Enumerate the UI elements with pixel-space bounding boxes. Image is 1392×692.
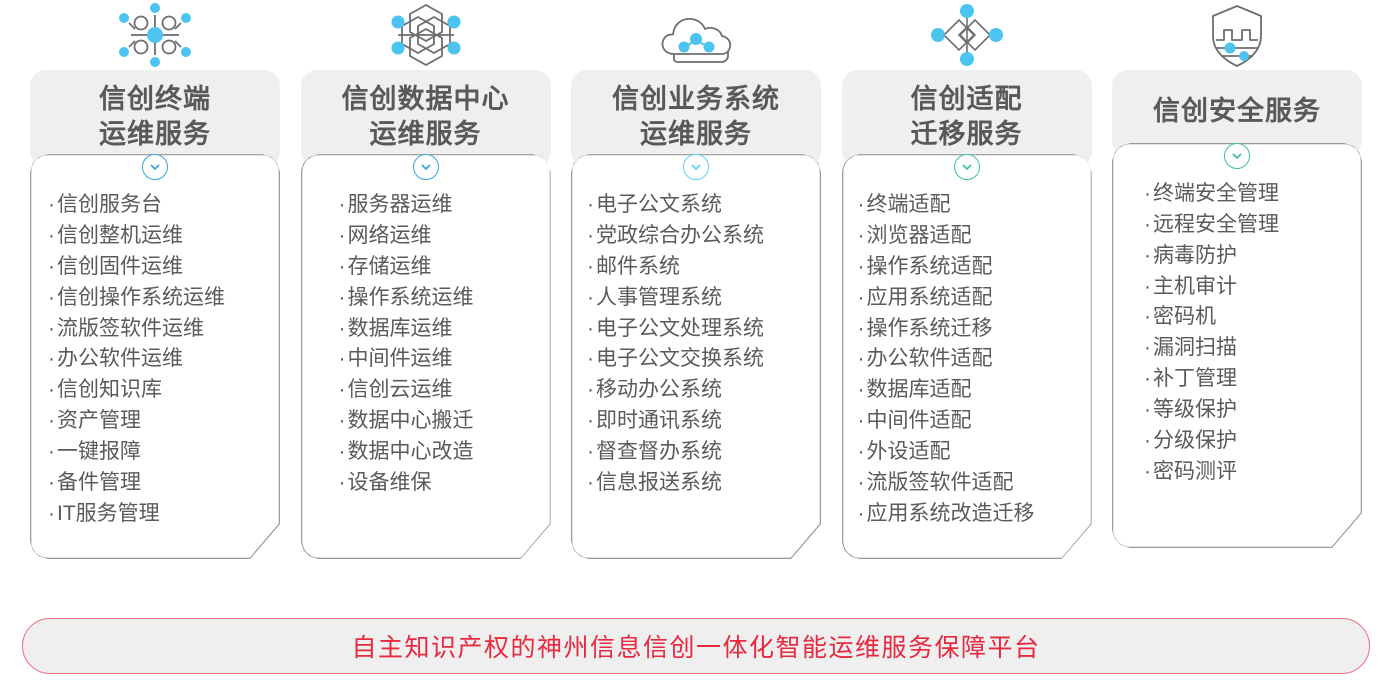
- capability-diagram: 信创终端 运维服务 ·信创服务台 ·信创整机运维 ·信创固件运维 ·信创操作系统…: [0, 0, 1392, 692]
- bullet: ·: [858, 286, 867, 309]
- service-item-list: ·服务器运维 ·网络运维 ·存储运维 ·操作系统运维 ·数据库运维 ·中间件运维…: [301, 176, 551, 499]
- bullet: ·: [339, 471, 348, 494]
- column-title: 信创业务系统 运维服务: [612, 82, 780, 151]
- list-item-label: 终端安全管理: [1153, 182, 1279, 205]
- list-item-label: 分级保护: [1153, 429, 1237, 452]
- bullet: ·: [587, 471, 596, 494]
- bullet: ·: [587, 317, 596, 340]
- service-column-security: 信创安全服务 ·终端安全管理 ·远程安全管理 ·病毒防护 ·主机审计 ·密码机 …: [1112, 0, 1362, 559]
- column-header-card: 信创数据中心 运维服务: [301, 70, 551, 167]
- list-item-label: 操作系统运维: [348, 286, 474, 309]
- column-header-card: 信创适配 迁移服务: [842, 70, 1092, 167]
- bullet: ·: [587, 440, 596, 463]
- list-item-label: 移动办公系统: [596, 378, 722, 401]
- bullet: ·: [339, 193, 348, 216]
- list-item-label: 信创整机运维: [57, 224, 183, 247]
- column-body-card: ·电子公文系统 ·党政综合办公系统 ·邮件系统 ·人事管理系统 ·电子公文处理系…: [571, 154, 821, 559]
- column-body-card: ·服务器运维 ·网络运维 ·存储运维 ·操作系统运维 ·数据库运维 ·中间件运维…: [301, 154, 551, 559]
- bullet: ·: [48, 224, 57, 247]
- bullet: ·: [1144, 275, 1153, 298]
- chevron-down-icon[interactable]: [683, 154, 709, 180]
- list-item[interactable]: ·中间件适配: [856, 406, 1092, 437]
- bullet: ·: [1144, 367, 1153, 390]
- list-item-label: 备件管理: [57, 471, 141, 494]
- list-item[interactable]: ·邮件系统: [585, 252, 821, 283]
- list-item[interactable]: ·操作系统适配: [856, 252, 1092, 283]
- list-item[interactable]: ·漏洞扫描: [1142, 333, 1362, 364]
- list-item-label: 数据库运维: [348, 317, 453, 340]
- bullet: ·: [1144, 336, 1153, 359]
- list-item[interactable]: ·资产管理: [46, 406, 280, 437]
- list-item[interactable]: ·远程安全管理: [1142, 210, 1362, 241]
- bullet: ·: [587, 409, 596, 432]
- list-item-label: 终端适配: [867, 193, 951, 216]
- bullet: ·: [339, 378, 348, 401]
- list-item-label: 督查督办系统: [596, 440, 722, 463]
- list-item[interactable]: ·IT服务管理: [46, 499, 280, 530]
- list-item[interactable]: ·办公软件运维: [46, 344, 280, 375]
- column-header-card: 信创终端 运维服务: [30, 70, 280, 167]
- list-item-label: 一键报障: [57, 440, 141, 463]
- list-item[interactable]: ·浏览器适配: [856, 221, 1092, 252]
- list-item[interactable]: ·督查督办系统: [585, 437, 821, 468]
- list-item[interactable]: ·数据库运维: [337, 314, 551, 345]
- bullet: ·: [1144, 213, 1153, 236]
- list-item[interactable]: ·操作系统运维: [337, 283, 551, 314]
- bullet: ·: [858, 440, 867, 463]
- list-item-label: 远程安全管理: [1153, 213, 1279, 236]
- bullet: ·: [1144, 244, 1153, 267]
- bullet: ·: [1144, 460, 1153, 483]
- list-item-label: 浏览器适配: [867, 224, 972, 247]
- list-item-label: 补丁管理: [1153, 367, 1237, 390]
- bullet: ·: [858, 224, 867, 247]
- list-item[interactable]: ·移动办公系统: [585, 375, 821, 406]
- platform-banner: 自主知识产权的神州信息信创一体化智能运维服务保障平台: [22, 618, 1370, 674]
- service-item-list: ·信创服务台 ·信创整机运维 ·信创固件运维 ·信创操作系统运维 ·流版签软件运…: [30, 176, 280, 529]
- chevron-down-icon[interactable]: [413, 154, 439, 180]
- list-item-label: 应用系统适配: [867, 286, 993, 309]
- bullet: ·: [48, 471, 57, 494]
- chevron-down-icon[interactable]: [142, 154, 168, 180]
- list-item-label: 邮件系统: [596, 255, 680, 278]
- bullet: ·: [1144, 398, 1153, 421]
- column-title: 信创安全服务: [1153, 94, 1321, 129]
- list-item-label: 操作系统适配: [867, 255, 993, 278]
- bullet: ·: [48, 255, 57, 278]
- bullet: ·: [858, 193, 867, 216]
- list-item[interactable]: ·电子公文交换系统: [585, 344, 821, 375]
- list-item[interactable]: ·党政综合办公系统: [585, 221, 821, 252]
- column-title: 信创适配 迁移服务: [911, 82, 1023, 151]
- list-item[interactable]: ·应用系统适配: [856, 283, 1092, 314]
- list-item[interactable]: ·外设适配: [856, 437, 1092, 468]
- list-item[interactable]: ·信创操作系统运维: [46, 283, 280, 314]
- list-item[interactable]: ·电子公文系统: [585, 190, 821, 221]
- list-item[interactable]: ·分级保护: [1142, 426, 1362, 457]
- bullet: ·: [858, 255, 867, 278]
- list-item-label: 数据中心改造: [348, 440, 474, 463]
- list-item[interactable]: ·终端适配: [856, 190, 1092, 221]
- bullet: ·: [858, 502, 867, 525]
- bullet: ·: [48, 502, 57, 525]
- list-item[interactable]: ·流版签软件运维: [46, 314, 280, 345]
- bullet: ·: [339, 286, 348, 309]
- column-body-card: ·终端适配 ·浏览器适配 ·操作系统适配 ·应用系统适配 ·操作系统迁移 ·办公…: [842, 154, 1092, 559]
- service-column-datacenter: 信创数据中心 运维服务 ·服务器运维 ·网络运维 ·存储运维 ·操作系统运维 ·…: [301, 0, 551, 559]
- list-item[interactable]: ·数据中心改造: [337, 437, 551, 468]
- bullet: ·: [48, 409, 57, 432]
- list-item-label: 中间件适配: [867, 409, 972, 432]
- list-item[interactable]: ·电子公文处理系统: [585, 314, 821, 345]
- list-item[interactable]: ·人事管理系统: [585, 283, 821, 314]
- bullet: ·: [858, 409, 867, 432]
- bullet: ·: [339, 255, 348, 278]
- list-item[interactable]: ·病毒防护: [1142, 241, 1362, 272]
- chevron-down-icon[interactable]: [954, 154, 980, 180]
- shield-security-icon: [1112, 0, 1362, 70]
- list-item[interactable]: ·信创云运维: [337, 375, 551, 406]
- service-column-business: 信创业务系统 运维服务 ·电子公文系统 ·党政综合办公系统 ·邮件系统 ·人事管…: [571, 0, 821, 559]
- list-item-label: 电子公文处理系统: [596, 317, 764, 340]
- column-body-card: ·终端安全管理 ·远程安全管理 ·病毒防护 ·主机审计 ·密码机 ·漏洞扫描 ·…: [1112, 143, 1362, 548]
- list-item-label: 漏洞扫描: [1153, 336, 1237, 359]
- list-item[interactable]: ·信创固件运维: [46, 252, 280, 283]
- bullet: ·: [48, 286, 57, 309]
- list-item-label: IT服务管理: [57, 502, 160, 525]
- list-item-label: 信创服务台: [57, 193, 162, 216]
- network-node-icon: [30, 0, 280, 70]
- list-item-label: 外设适配: [867, 440, 951, 463]
- list-item-label: 操作系统迁移: [867, 317, 993, 340]
- list-item-label: 人事管理系统: [596, 286, 722, 309]
- list-item-label: 信创固件运维: [57, 255, 183, 278]
- bullet: ·: [587, 193, 596, 216]
- list-item[interactable]: ·密码测评: [1142, 457, 1362, 488]
- bullet: ·: [858, 471, 867, 494]
- bullet: ·: [587, 347, 596, 370]
- list-item[interactable]: ·存储运维: [337, 252, 551, 283]
- list-item-label: 存储运维: [348, 255, 432, 278]
- bullet: ·: [48, 378, 57, 401]
- platform-banner-text: 自主知识产权的神州信息信创一体化智能运维服务保障平台: [351, 628, 1040, 664]
- list-item[interactable]: ·网络运维: [337, 221, 551, 252]
- bullet: ·: [587, 224, 596, 247]
- column-body-card: ·信创服务台 ·信创整机运维 ·信创固件运维 ·信创操作系统运维 ·流版签软件运…: [30, 154, 280, 559]
- list-item[interactable]: ·服务器运维: [337, 190, 551, 221]
- list-item-label: 数据中心搬迁: [348, 409, 474, 432]
- list-item-label: 设备维保: [348, 471, 432, 494]
- service-item-list: ·终端适配 ·浏览器适配 ·操作系统适配 ·应用系统适配 ·操作系统迁移 ·办公…: [842, 176, 1092, 529]
- list-item[interactable]: ·信创服务台: [46, 190, 280, 221]
- list-item-label: 信创云运维: [348, 378, 453, 401]
- list-item-label: 即时通讯系统: [596, 409, 722, 432]
- bullet: ·: [587, 255, 596, 278]
- list-item-label: 中间件运维: [348, 347, 453, 370]
- bullet: ·: [1144, 429, 1153, 452]
- bullet: ·: [339, 224, 348, 247]
- list-item-label: 网络运维: [348, 224, 432, 247]
- column-title: 信创数据中心 运维服务: [342, 82, 510, 151]
- bullet: ·: [858, 347, 867, 370]
- diamond-migration-icon: [842, 0, 1092, 70]
- list-item[interactable]: ·设备维保: [337, 468, 551, 499]
- list-item-label: 服务器运维: [348, 193, 453, 216]
- list-item[interactable]: ·一键报障: [46, 437, 280, 468]
- list-item-label: 病毒防护: [1153, 244, 1237, 267]
- column-title: 信创终端 运维服务: [99, 82, 211, 151]
- bullet: ·: [1144, 305, 1153, 328]
- bullet: ·: [48, 317, 57, 340]
- list-item[interactable]: ·中间件运维: [337, 344, 551, 375]
- list-item-label: 数据库适配: [867, 378, 972, 401]
- list-item-label: 流版签软件运维: [57, 317, 204, 340]
- bullet: ·: [858, 317, 867, 340]
- service-columns: 信创终端 运维服务 ·信创服务台 ·信创整机运维 ·信创固件运维 ·信创操作系统…: [0, 0, 1392, 559]
- list-item[interactable]: ·办公软件适配: [856, 344, 1092, 375]
- list-item-label: 办公软件适配: [867, 347, 993, 370]
- bullet: ·: [1144, 182, 1153, 205]
- list-item[interactable]: ·数据中心搬迁: [337, 406, 551, 437]
- service-item-list: ·电子公文系统 ·党政综合办公系统 ·邮件系统 ·人事管理系统 ·电子公文处理系…: [571, 176, 821, 499]
- list-item-label: 流版签软件适配: [867, 471, 1014, 494]
- list-item-label: 等级保护: [1153, 398, 1237, 421]
- list-item-label: 主机审计: [1153, 275, 1237, 298]
- bullet: ·: [48, 440, 57, 463]
- list-item[interactable]: ·信息报送系统: [585, 468, 821, 499]
- list-item-label: 电子公文系统: [596, 193, 722, 216]
- list-item-label: 党政综合办公系统: [596, 224, 764, 247]
- list-item-label: 信创操作系统运维: [57, 286, 225, 309]
- bullet: ·: [858, 378, 867, 401]
- bullet: ·: [339, 409, 348, 432]
- chevron-down-icon[interactable]: [1224, 143, 1250, 169]
- list-item[interactable]: ·流版签软件适配: [856, 468, 1092, 499]
- list-item[interactable]: ·即时通讯系统: [585, 406, 821, 437]
- bullet: ·: [587, 286, 596, 309]
- list-item-label: 信创知识库: [57, 378, 162, 401]
- bullet: ·: [339, 440, 348, 463]
- list-item[interactable]: ·信创知识库: [46, 375, 280, 406]
- service-column-terminal: 信创终端 运维服务 ·信创服务台 ·信创整机运维 ·信创固件运维 ·信创操作系统…: [30, 0, 280, 559]
- column-header-card: 信创业务系统 运维服务: [571, 70, 821, 167]
- list-item-label: 信息报送系统: [596, 471, 722, 494]
- list-item[interactable]: ·操作系统迁移: [856, 314, 1092, 345]
- bullet: ·: [48, 193, 57, 216]
- list-item[interactable]: ·补丁管理: [1142, 364, 1362, 395]
- list-item[interactable]: ·主机审计: [1142, 272, 1362, 303]
- list-item-label: 资产管理: [57, 409, 141, 432]
- list-item-label: 密码机: [1153, 305, 1216, 328]
- bullet: ·: [587, 378, 596, 401]
- list-item-label: 电子公文交换系统: [596, 347, 764, 370]
- bullet: ·: [339, 347, 348, 370]
- list-item-label: 办公软件运维: [57, 347, 183, 370]
- service-column-migration: 信创适配 迁移服务 ·终端适配 ·浏览器适配 ·操作系统适配 ·应用系统适配 ·…: [842, 0, 1092, 559]
- list-item-label: 应用系统改造迁移: [867, 502, 1035, 525]
- cloud-network-icon: [571, 0, 821, 70]
- list-item[interactable]: ·等级保护: [1142, 395, 1362, 426]
- list-item[interactable]: ·备件管理: [46, 468, 280, 499]
- list-item[interactable]: ·应用系统改造迁移: [856, 499, 1092, 530]
- hexagon-datacenter-icon: [301, 0, 551, 70]
- list-item[interactable]: ·终端安全管理: [1142, 179, 1362, 210]
- list-item[interactable]: ·数据库适配: [856, 375, 1092, 406]
- service-item-list: ·终端安全管理 ·远程安全管理 ·病毒防护 ·主机审计 ·密码机 ·漏洞扫描 ·…: [1112, 165, 1362, 488]
- list-item-label: 密码测评: [1153, 460, 1237, 483]
- bullet: ·: [48, 347, 57, 370]
- list-item[interactable]: ·信创整机运维: [46, 221, 280, 252]
- list-item[interactable]: ·密码机: [1142, 302, 1362, 333]
- bullet: ·: [339, 317, 348, 340]
